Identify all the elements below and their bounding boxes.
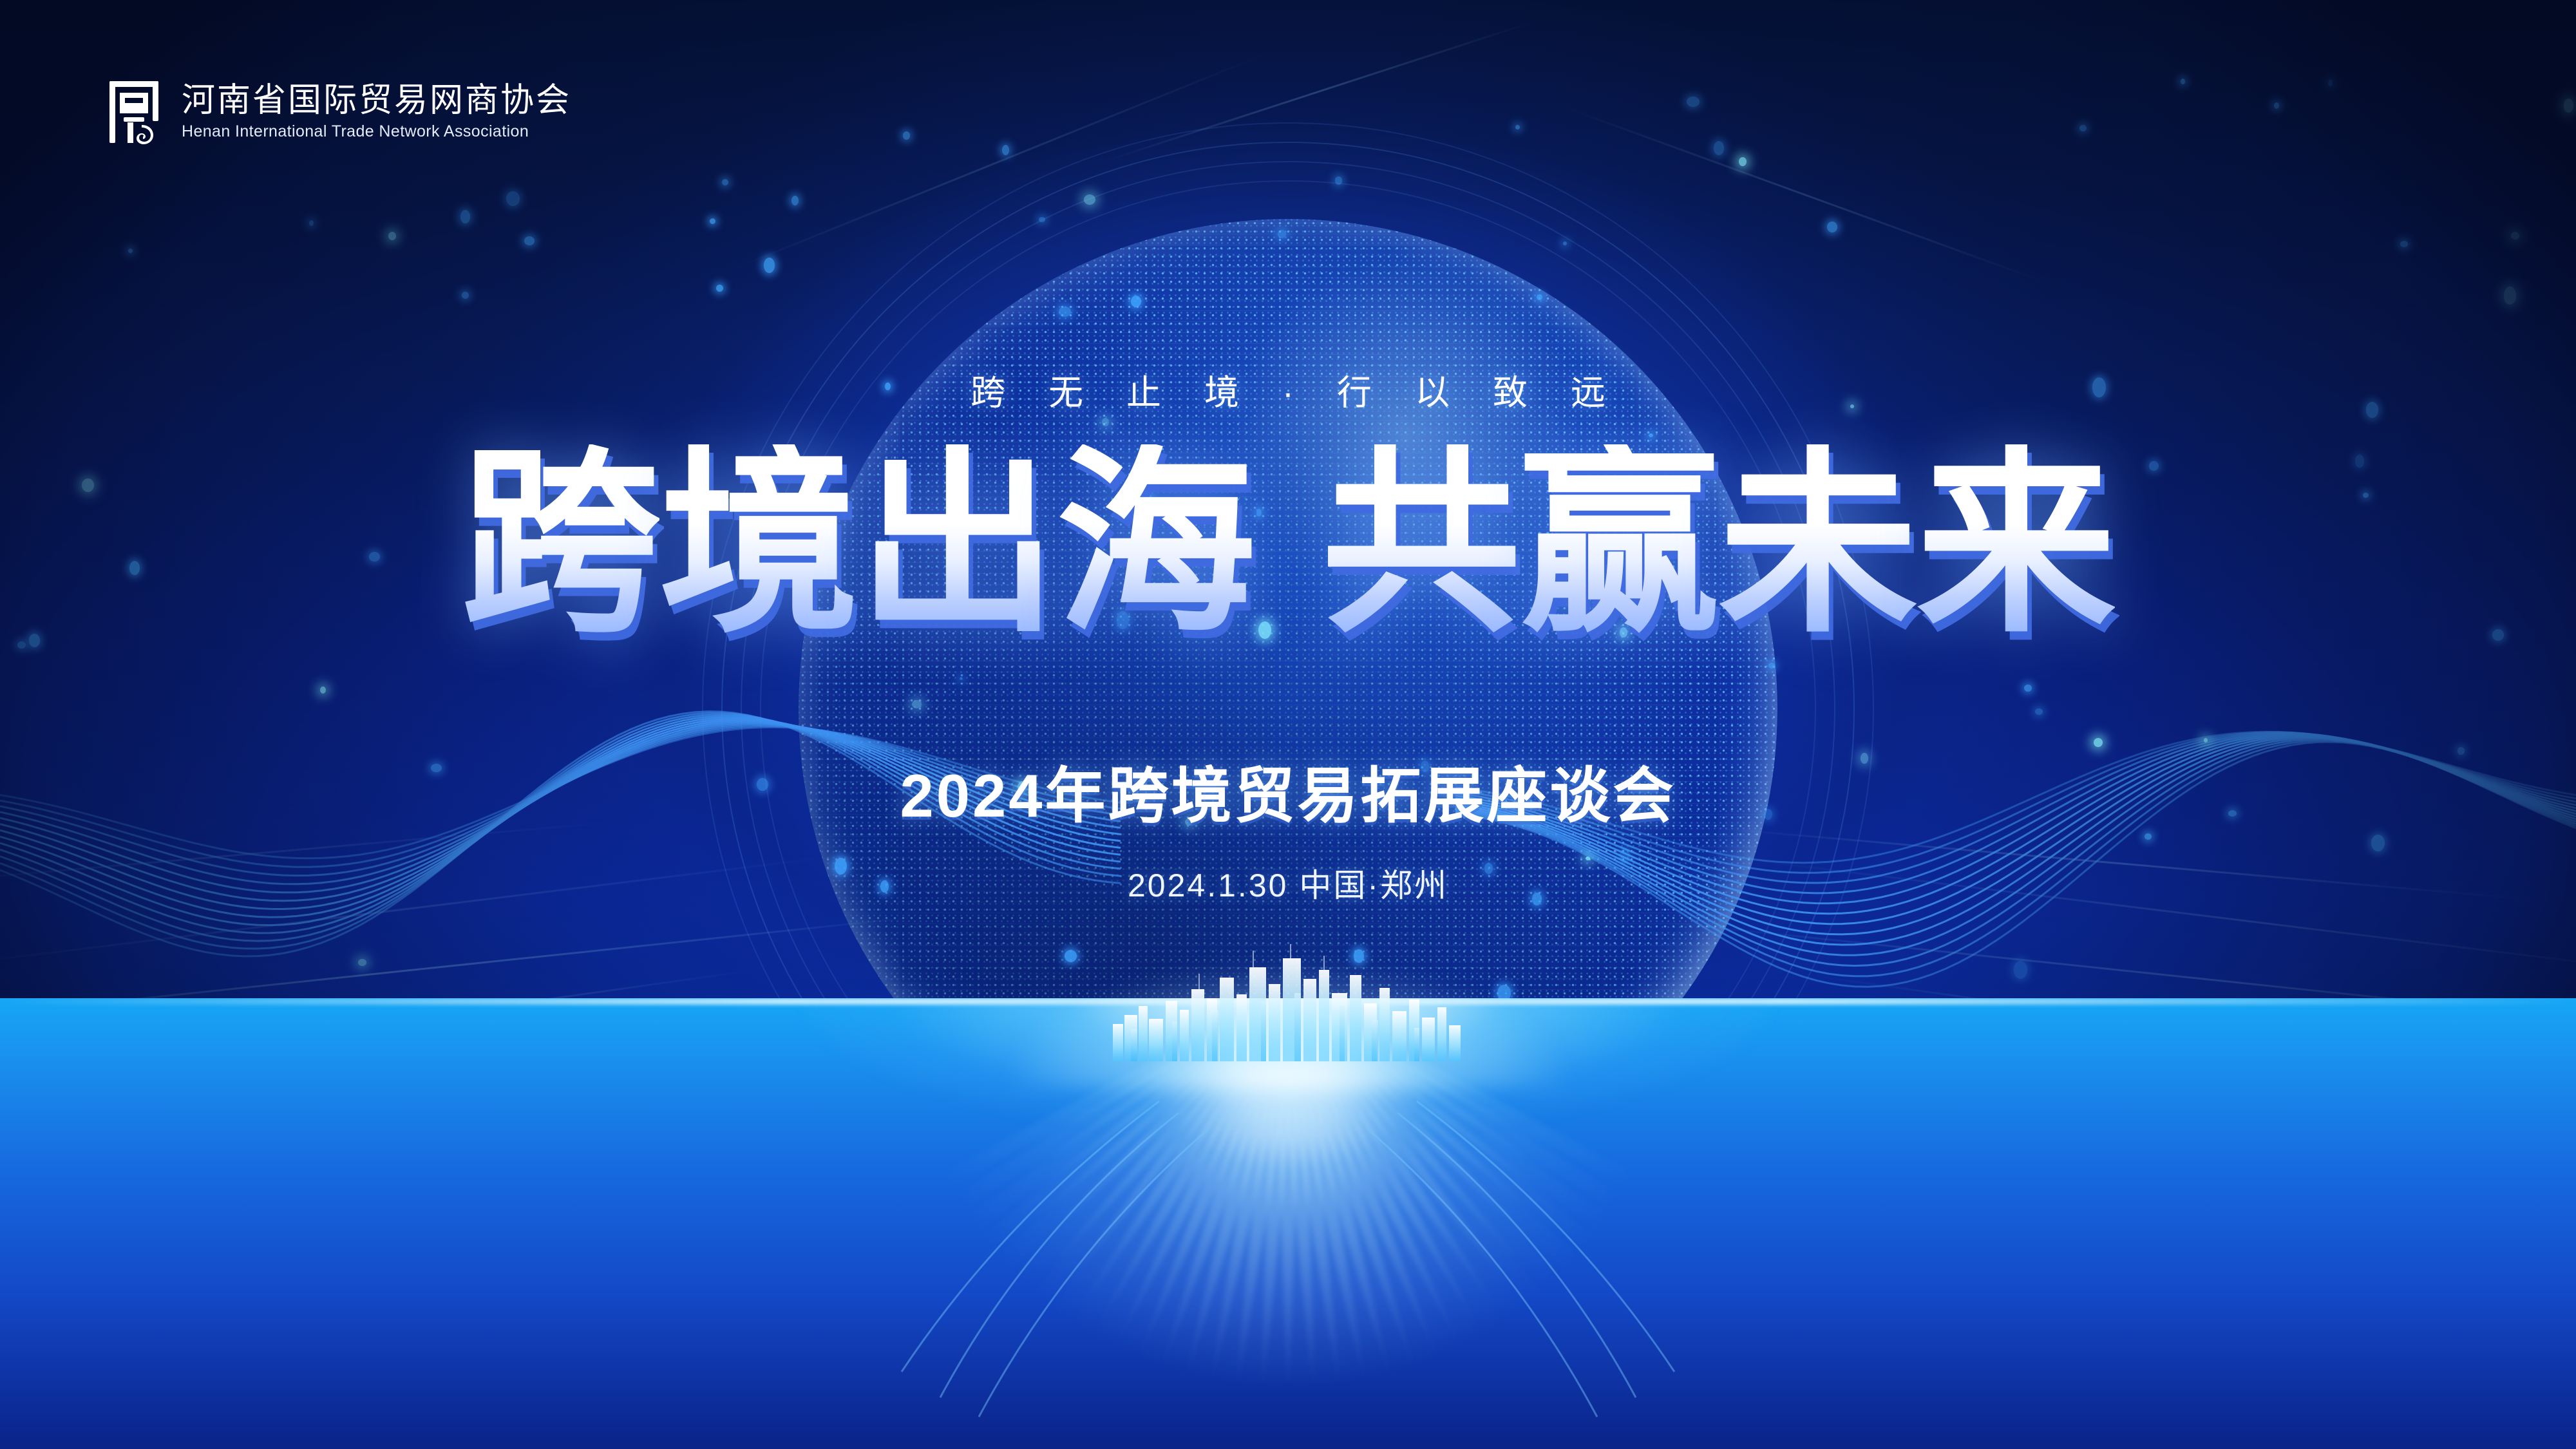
org-name-cn: 河南省国际贸易网商协会 bbox=[182, 83, 571, 118]
headline-char: 海 bbox=[1056, 444, 1255, 644]
seal-emblem-icon bbox=[103, 76, 165, 148]
headline-char: 共 bbox=[1321, 444, 1520, 644]
headline-char: 赢 bbox=[1520, 444, 1718, 644]
event-meta: 2024.1.30 中国·郑州 bbox=[0, 860, 2576, 906]
association-logo[interactable]: 河南省国际贸易网商协会 Henan International Trade Ne… bbox=[103, 76, 571, 148]
city-skyline-icon bbox=[1108, 939, 1468, 1061]
headline-char: 未 bbox=[1718, 444, 1917, 644]
headline-part-1: 跨境出海 bbox=[461, 444, 1255, 644]
headline-char: 跨 bbox=[461, 444, 659, 644]
event-subtitle: 2024年跨境贸易拓展座谈会 bbox=[0, 747, 2576, 835]
headline-char: 来 bbox=[1917, 444, 2115, 644]
event-banner: 河南省国际贸易网商协会 Henan International Trade Ne… bbox=[0, 0, 2576, 1449]
headline-char: 境 bbox=[659, 444, 858, 644]
org-name-en: Henan International Trade Network Associ… bbox=[182, 122, 571, 141]
headline-part-2: 共赢未来 bbox=[1321, 444, 2115, 644]
headline: 跨境出海 共赢未来 bbox=[0, 444, 2576, 644]
tagline: 跨 无 止 境 · 行 以 致 远 bbox=[0, 364, 2576, 415]
headline-char: 出 bbox=[858, 444, 1056, 644]
